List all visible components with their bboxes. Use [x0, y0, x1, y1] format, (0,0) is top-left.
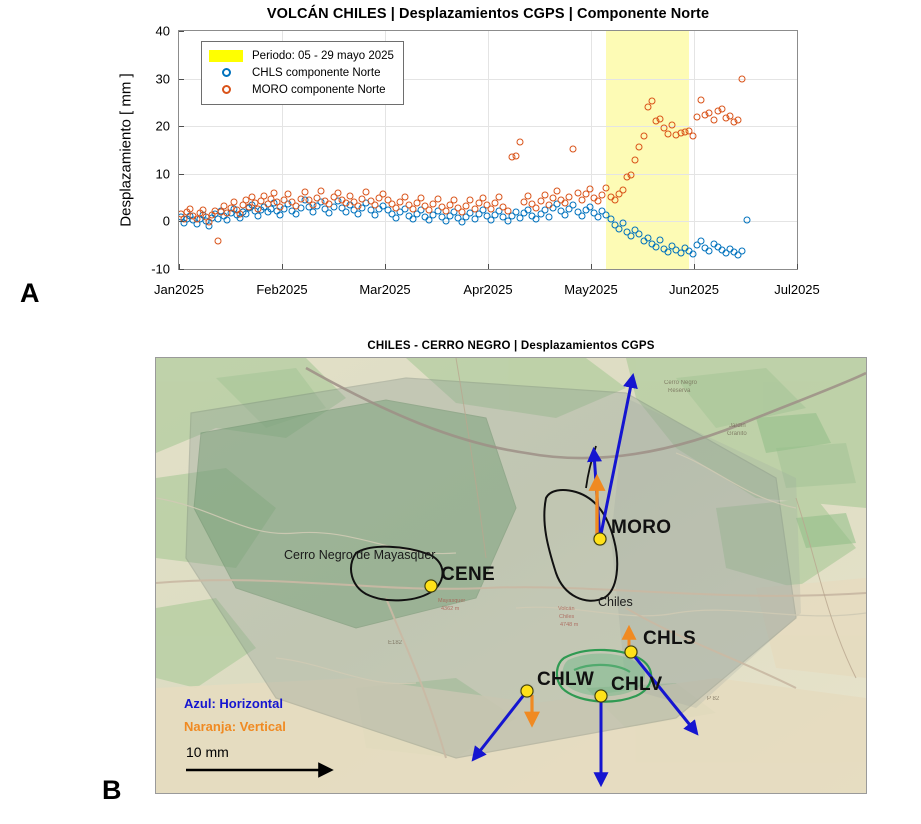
station-pin-icon: [595, 690, 608, 703]
chart-title: VOLCÁN CHILES | Desplazamientos CGPS | C…: [178, 6, 798, 22]
data-point-moro: [735, 117, 742, 124]
data-point-moro: [318, 187, 325, 194]
data-point-moro: [418, 194, 425, 201]
gridline-x-5: [694, 31, 695, 269]
data-point-moro: [537, 198, 544, 205]
data-point-moro: [566, 193, 573, 200]
x-tick-mark-May2025: [591, 264, 592, 269]
data-point-moro: [401, 193, 408, 200]
data-point-moro: [570, 146, 577, 153]
legend-marker-chls: [209, 68, 243, 77]
data-point-moro: [467, 197, 474, 204]
data-point-moro: [718, 106, 725, 113]
x-tick-mark-Jan2025: [179, 264, 180, 269]
y-tick-30: 30: [132, 71, 170, 86]
station-pin-icon: [594, 533, 607, 546]
x-tick-Mar2025: Mar2025: [359, 282, 410, 297]
data-point-moro: [359, 195, 366, 202]
data-point-moro: [574, 189, 581, 196]
y-tick-mark-10: [179, 174, 184, 175]
y-tick-mark-0: [179, 221, 184, 222]
data-point-moro: [648, 98, 655, 105]
data-point-moro: [479, 194, 486, 201]
x-tick-mark-Apr2025: [488, 264, 489, 269]
data-point-moro: [640, 132, 647, 139]
data-point-chls: [242, 211, 249, 218]
station-label-chlw: CHLW: [537, 669, 594, 691]
station-pin-icon: [521, 685, 534, 698]
data-point-chls: [342, 209, 349, 216]
data-point-moro: [554, 187, 561, 194]
legend-swatch-yellow: [209, 50, 243, 62]
data-point-moro: [628, 171, 635, 178]
data-point-moro: [689, 132, 696, 139]
data-point-moro: [595, 198, 602, 205]
y-tick-mark--10: [179, 269, 184, 270]
vector-moro-horizontal: [600, 380, 632, 539]
data-point-moro: [632, 156, 639, 163]
station-marker-chlw[interactable]: [521, 685, 534, 698]
place-label-1: Chiles: [598, 595, 633, 609]
x-tick-mark-Mar2025: [385, 264, 386, 269]
data-point-moro: [326, 201, 333, 208]
data-point-moro: [276, 204, 283, 211]
data-point-moro: [694, 113, 701, 120]
data-point-moro: [541, 191, 548, 198]
data-point-moro: [371, 202, 378, 209]
data-point-moro: [599, 191, 606, 198]
legend-marker-moro: [209, 85, 243, 94]
x-tick-Jul2025: Jul2025: [774, 282, 820, 297]
x-tick-Jun2025: Jun2025: [669, 282, 719, 297]
legend-row-chls: CHLS componente Norte: [209, 64, 394, 81]
legend-label-chls: CHLS componente Norte: [252, 67, 380, 79]
data-point-moro: [578, 197, 585, 204]
data-point-moro: [363, 188, 370, 195]
data-point-moro: [451, 196, 458, 203]
station-label-chls: CHLS: [643, 628, 696, 650]
data-point-moro: [270, 189, 277, 196]
data-point-moro: [603, 185, 610, 192]
data-point-moro: [293, 203, 300, 210]
y-tick-mark-30: [179, 79, 184, 80]
station-label-cene: CENE: [441, 564, 495, 586]
data-point-moro: [309, 202, 316, 209]
data-point-chls: [545, 213, 552, 220]
data-point-chls: [276, 211, 283, 218]
chart-plot-area: Periodo: 05 - 29 mayo 2025 CHLS componen…: [178, 30, 798, 270]
data-point-moro: [525, 192, 532, 199]
station-label-moro: MORO: [611, 517, 671, 539]
data-point-moro: [619, 186, 626, 193]
data-point-moro: [710, 116, 717, 123]
data-point-moro: [586, 186, 593, 193]
x-tick-mark-Jun2025: [694, 264, 695, 269]
data-point-chls: [706, 247, 713, 254]
data-point-chls: [293, 211, 300, 218]
data-point-moro: [379, 190, 386, 197]
panel-label-b: B: [102, 775, 122, 806]
station-pin-icon: [425, 580, 438, 593]
data-point-moro: [301, 188, 308, 195]
gridline-x-3: [488, 31, 489, 269]
data-point-moro: [334, 189, 341, 196]
data-point-moro: [492, 200, 499, 207]
y-tick-10: 10: [132, 166, 170, 181]
data-point-moro: [611, 197, 618, 204]
data-point-moro: [215, 238, 222, 245]
data-point-moro: [496, 193, 503, 200]
y-axis-label: Desplazamiento [ mm ]: [118, 73, 135, 226]
data-point-chls: [309, 208, 316, 215]
x-tick-Jan2025: Jan2025: [154, 282, 204, 297]
map-legend-naranja: Naranja: Vertical: [184, 719, 286, 734]
data-point-chls: [652, 244, 659, 251]
data-point-moro: [549, 194, 556, 201]
x-tick-Feb2025: Feb2025: [256, 282, 307, 297]
place-label-0: Cerro Negro de Mayasquer: [284, 548, 435, 562]
vector-chlw-horizontal: [476, 691, 527, 756]
data-point-moro: [281, 197, 288, 204]
data-point-chls: [636, 230, 643, 237]
data-point-moro: [285, 190, 292, 197]
panel-a-chart: VOLCÁN CHILES | Desplazamientos CGPS | C…: [0, 0, 921, 320]
y-tick-mark-40: [179, 31, 184, 32]
panel-b-map: CHILES - CERRO NEGRO | Desplazamientos C…: [0, 320, 921, 824]
data-point-moro: [533, 205, 540, 212]
data-point-moro: [236, 210, 243, 217]
data-point-moro: [657, 115, 664, 122]
data-point-moro: [434, 195, 441, 202]
data-point-moro: [297, 195, 304, 202]
scale-bar-label: 10 mm: [186, 744, 229, 760]
map-legend-azul: Azul: Horizontal: [184, 696, 283, 711]
data-point-moro: [545, 202, 552, 209]
data-point-moro: [314, 194, 321, 201]
data-point-moro: [512, 152, 519, 159]
data-point-chls: [739, 247, 746, 254]
data-point-moro: [504, 207, 511, 214]
data-point-moro: [255, 206, 262, 213]
map-title: CHILES - CERRO NEGRO | Desplazamientos C…: [155, 340, 867, 352]
station-marker-cene[interactable]: [425, 580, 438, 593]
data-point-moro: [521, 199, 528, 206]
legend-label-period: Periodo: 05 - 29 mayo 2025: [252, 50, 394, 62]
data-point-moro: [205, 219, 212, 226]
data-point-chls: [224, 216, 231, 223]
data-point-moro: [636, 144, 643, 151]
station-pin-icon: [625, 646, 638, 659]
data-point-moro: [516, 139, 523, 146]
station-marker-chlv[interactable]: [595, 690, 608, 703]
y-tick-0: 0: [132, 214, 170, 229]
x-tick-mark-Jul2025: [797, 264, 798, 269]
data-point-moro: [698, 96, 705, 103]
data-point-chls: [355, 210, 362, 217]
chart-legend: Periodo: 05 - 29 mayo 2025 CHLS componen…: [201, 41, 404, 105]
data-point-moro: [355, 203, 362, 210]
x-tick-Apr2025: Apr2025: [463, 282, 512, 297]
map-frame[interactable]: Cerro NegroReservaJardínGranitoLomo Redo…: [155, 357, 867, 794]
data-point-moro: [665, 130, 672, 137]
data-point-chls: [619, 220, 626, 227]
legend-row-period: Periodo: 05 - 29 mayo 2025: [209, 47, 394, 64]
station-marker-moro[interactable]: [594, 533, 607, 546]
x-tick-May2025: May2025: [564, 282, 617, 297]
data-point-moro: [230, 199, 237, 206]
y-tick-20: 20: [132, 119, 170, 134]
data-point-moro: [193, 216, 200, 223]
y-tick--10: -10: [132, 262, 170, 277]
data-point-chls: [689, 250, 696, 257]
data-point-moro: [342, 200, 349, 207]
scale-bar-arrow: [184, 762, 364, 782]
station-marker-chls[interactable]: [625, 646, 638, 659]
y-tick-40: 40: [132, 24, 170, 39]
data-point-chls: [657, 237, 664, 244]
legend-row-moro: MORO componente Norte: [209, 81, 394, 98]
data-point-moro: [562, 200, 569, 207]
x-tick-mark-Feb2025: [282, 264, 283, 269]
gridline-x-4: [591, 31, 592, 269]
panel-label-a: A: [20, 278, 40, 309]
data-point-moro: [669, 122, 676, 129]
data-point-chls: [743, 217, 750, 224]
legend-label-moro: MORO componente Norte: [252, 84, 386, 96]
y-tick-mark-20: [179, 126, 184, 127]
data-point-moro: [739, 75, 746, 82]
station-label-chlv: CHLV: [611, 674, 663, 696]
